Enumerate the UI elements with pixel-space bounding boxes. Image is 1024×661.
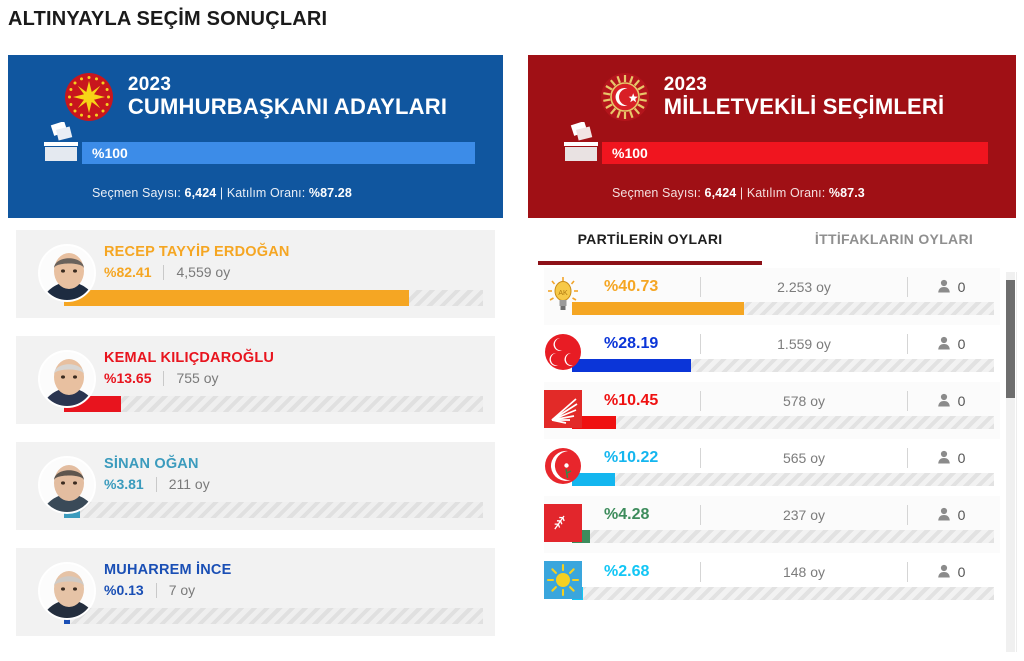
- presidential-meta-separator: |: [220, 186, 223, 200]
- party-stats: %4.28 237 oy 0: [590, 502, 994, 528]
- party-vote-bar: [572, 587, 994, 600]
- party-seat-value: 0: [958, 450, 966, 466]
- presidential-election-name: CUMHURBAŞKANI ADAYLARI: [128, 95, 447, 118]
- candidate-percent: %13.65: [104, 370, 151, 386]
- parliamentary-progress-label: %100: [612, 145, 648, 161]
- panel-right-edge: [1016, 272, 1017, 652]
- presidential-seal-icon: [64, 72, 114, 122]
- parliamentary-progress-bar: %100: [602, 142, 988, 164]
- candidate-votes: 755 oy: [176, 370, 218, 386]
- party-vote-bar: [572, 416, 994, 429]
- akp-lightbulb-logo: AK: [544, 276, 582, 314]
- party-vote-bar: [572, 302, 994, 315]
- candidate-row[interactable]: RECEP TAYYİP ERDOĞAN %82.41 4,559 oy: [16, 230, 495, 318]
- party-vote-bar-fill: [572, 359, 691, 372]
- party-seat-value: 0: [958, 393, 966, 409]
- party-votes: 578 oy: [701, 393, 907, 409]
- presidential-progress-bar: %100: [82, 142, 475, 164]
- candidate-votes: 4,559 oy: [176, 264, 230, 280]
- party-percent: %40.73: [590, 278, 700, 296]
- presidential-header-titles: 2023 CUMHURBAŞKANI ADAYLARI: [128, 75, 447, 118]
- stat-divider: [156, 477, 157, 492]
- party-percent: %10.45: [590, 392, 700, 410]
- election-results-page: ALTINYAYLA SEÇİM SONUÇLARI: [0, 0, 1024, 661]
- parliamentary-voters-label: Seçmen Sayısı:: [612, 186, 701, 200]
- ballot-box-icon: [42, 122, 82, 168]
- candidate-name: RECEP TAYYİP ERDOĞAN: [104, 244, 483, 260]
- candidate-stats: %82.41 4,559 oy: [104, 264, 483, 280]
- presidential-turnout-value: %87.28: [309, 186, 352, 200]
- candidate-row[interactable]: KEMAL KILIÇDAROĞLU %13.65 755 oy: [16, 336, 495, 424]
- presidential-progress-label: %100: [92, 145, 128, 161]
- candidate-percent: %82.41: [104, 264, 151, 280]
- stat-divider: [156, 583, 157, 598]
- candidate-photo-ince: [38, 562, 96, 620]
- party-seat-value: 0: [958, 336, 966, 352]
- party-row[interactable]: %10.45 578 oy 0: [544, 382, 1000, 439]
- candidate-row[interactable]: SİNAN OĞAN %3.81 211 oy: [16, 442, 495, 530]
- candidate-vote-bar-fill: [64, 290, 409, 306]
- candidate-vote-bar: [64, 502, 483, 518]
- party-row[interactable]: AK %40.73 2.253 oy 0: [544, 268, 1000, 325]
- party-seat-value: 0: [958, 279, 966, 295]
- parliamentary-header-titles: 2023 MİLLETVEKİLİ SEÇİMLERİ: [664, 75, 945, 118]
- stat-divider: [163, 265, 164, 280]
- tbmm-parliament-icon: [600, 72, 650, 122]
- candidate-info: KEMAL KILIÇDAROĞLU %13.65 755 oy: [104, 350, 483, 386]
- person-icon: [937, 336, 951, 353]
- party-votes: 148 oy: [701, 564, 907, 580]
- party-stats: %10.45 578 oy 0: [590, 388, 994, 414]
- presidential-year: 2023: [128, 75, 447, 95]
- candidate-photo-ogan: [38, 456, 96, 514]
- presidential-turnout-label: Katılım Oranı:: [227, 186, 306, 200]
- party-row[interactable]: %10.22 565 oy 0: [544, 439, 1000, 496]
- parliamentary-turnout-label: Katılım Oranı:: [747, 186, 826, 200]
- svg-text:AK: AK: [558, 290, 568, 297]
- candidate-info: SİNAN OĞAN %3.81 211 oy: [104, 456, 483, 492]
- iyi-party-sun-logo: [544, 561, 582, 599]
- parliamentary-tabs: PARTİLERİN OYLARIİTTİFAKLARIN OYLARI: [528, 218, 1016, 265]
- presidential-progress-row: %100: [8, 136, 503, 170]
- parliamentary-year: 2023: [664, 75, 945, 95]
- chp-six-arrows-logo: [544, 390, 582, 428]
- candidate-name: MUHARREM İNCE: [104, 562, 483, 578]
- party-results-list: AK %40.73 2.253 oy 0 %28.19 1.559 oy: [544, 268, 1000, 610]
- parliamentary-progress-row: %100: [528, 136, 1016, 170]
- candidate-votes: 211 oy: [169, 476, 210, 492]
- party-seat-count: 0: [908, 564, 994, 581]
- presidential-header-top: 2023 CUMHURBAŞKANI ADAYLARI: [8, 55, 503, 122]
- page-title: ALTINYAYLA SEÇİM SONUÇLARI: [8, 8, 327, 31]
- party-percent: %28.19: [590, 335, 700, 353]
- party-stats: %40.73 2.253 oy 0: [590, 274, 994, 300]
- person-icon: [937, 564, 951, 581]
- mhp-crescents-logo: [544, 333, 582, 371]
- party-votes: 565 oy: [701, 450, 907, 466]
- party-vote-bar: [572, 530, 994, 543]
- parliamentary-turnout-value: %87.3: [829, 186, 865, 200]
- party-percent: %4.28: [590, 506, 700, 524]
- party-seat-count: 0: [908, 450, 994, 467]
- candidate-vote-bar: [64, 608, 483, 624]
- party-stats: %2.68 148 oy 0: [590, 559, 994, 585]
- candidate-photo-erdogan: [38, 244, 96, 302]
- presidential-results-panel: 2023 CUMHURBAŞKANI ADAYLARI %100 Seçmen …: [8, 55, 503, 661]
- candidate-stats: %3.81 211 oy: [104, 476, 483, 492]
- person-icon: [937, 393, 951, 410]
- saadet-crescent-wheat-logo: [544, 504, 582, 542]
- party-vote-bar: [572, 359, 994, 372]
- parliamentary-election-name: MİLLETVEKİLİ SEÇİMLERİ: [664, 95, 945, 118]
- candidate-vote-bar: [64, 396, 483, 412]
- candidate-percent: %3.81: [104, 476, 144, 492]
- parliamentary-progress-fill: [602, 142, 988, 164]
- person-icon: [937, 450, 951, 467]
- party-vote-bar-fill: [572, 302, 744, 315]
- person-icon: [937, 279, 951, 296]
- candidate-vote-bar: [64, 290, 483, 306]
- party-seat-count: 0: [908, 279, 994, 296]
- party-stats: %28.19 1.559 oy 0: [590, 331, 994, 357]
- parliamentary-voters-value: 6,424: [705, 186, 737, 200]
- party-stats: %10.22 565 oy 0: [590, 445, 994, 471]
- parliamentary-meta-separator: |: [740, 186, 743, 200]
- party-row[interactable]: %2.68 148 oy 0: [544, 553, 1000, 610]
- party-seat-value: 0: [958, 507, 966, 523]
- yrp-rose-crescent-logo: [544, 447, 582, 485]
- presidential-voters-label: Seçmen Sayısı:: [92, 186, 181, 200]
- tab-party-votes[interactable]: PARTİLERİN OYLARI: [528, 218, 772, 265]
- party-percent: %10.22: [590, 449, 700, 467]
- parliamentary-header-top: 2023 MİLLETVEKİLİ SEÇİMLERİ: [528, 55, 1016, 122]
- person-icon: [937, 507, 951, 524]
- party-row[interactable]: %28.19 1.559 oy 0: [544, 325, 1000, 382]
- parliamentary-meta: Seçmen Sayısı: 6,424 | Katılım Oranı: %8…: [612, 186, 865, 200]
- parliamentary-panel-header: 2023 MİLLETVEKİLİ SEÇİMLERİ %100 Seçmen …: [528, 55, 1016, 218]
- presidential-meta: Seçmen Sayısı: 6,424 | Katılım Oranı: %8…: [92, 186, 352, 200]
- party-percent: %2.68: [590, 563, 700, 581]
- candidate-stats: %13.65 755 oy: [104, 370, 483, 386]
- stat-divider: [163, 371, 164, 386]
- party-seat-count: 0: [908, 393, 994, 410]
- party-seat-count: 0: [908, 507, 994, 524]
- party-vote-bar: [572, 473, 994, 486]
- candidate-stats: %0.13 7 oy: [104, 582, 483, 598]
- tab-alliance-votes[interactable]: İTTİFAKLARIN OYLARI: [772, 218, 1016, 265]
- party-votes: 1.559 oy: [701, 336, 907, 352]
- candidate-row[interactable]: MUHARREM İNCE %0.13 7 oy: [16, 548, 495, 636]
- party-seat-value: 0: [958, 564, 966, 580]
- candidate-list: RECEP TAYYİP ERDOĞAN %82.41 4,559 oy KEM…: [16, 230, 495, 654]
- party-votes: 2.253 oy: [701, 279, 907, 295]
- candidate-name: SİNAN OĞAN: [104, 456, 483, 472]
- results-scrollbar[interactable]: [1006, 272, 1015, 652]
- candidate-photo-kilicdaroglu: [38, 350, 96, 408]
- party-votes: 237 oy: [701, 507, 907, 523]
- party-seat-count: 0: [908, 336, 994, 353]
- candidate-percent: %0.13: [104, 582, 144, 598]
- candidate-votes: 7 oy: [169, 582, 195, 598]
- party-row[interactable]: %4.28 237 oy 0: [544, 496, 1000, 553]
- candidate-name: KEMAL KILIÇDAROĞLU: [104, 350, 483, 366]
- scrollbar-thumb[interactable]: [1006, 280, 1015, 398]
- parliamentary-results-panel: 2023 MİLLETVEKİLİ SEÇİMLERİ %100 Seçmen …: [528, 55, 1016, 661]
- presidential-panel-header: 2023 CUMHURBAŞKANI ADAYLARI %100 Seçmen …: [8, 55, 503, 218]
- candidate-info: RECEP TAYYİP ERDOĞAN %82.41 4,559 oy: [104, 244, 483, 280]
- presidential-voters-value: 6,424: [185, 186, 217, 200]
- presidential-progress-fill: [82, 142, 475, 164]
- candidate-info: MUHARREM İNCE %0.13 7 oy: [104, 562, 483, 598]
- ballot-box-icon: [562, 122, 602, 168]
